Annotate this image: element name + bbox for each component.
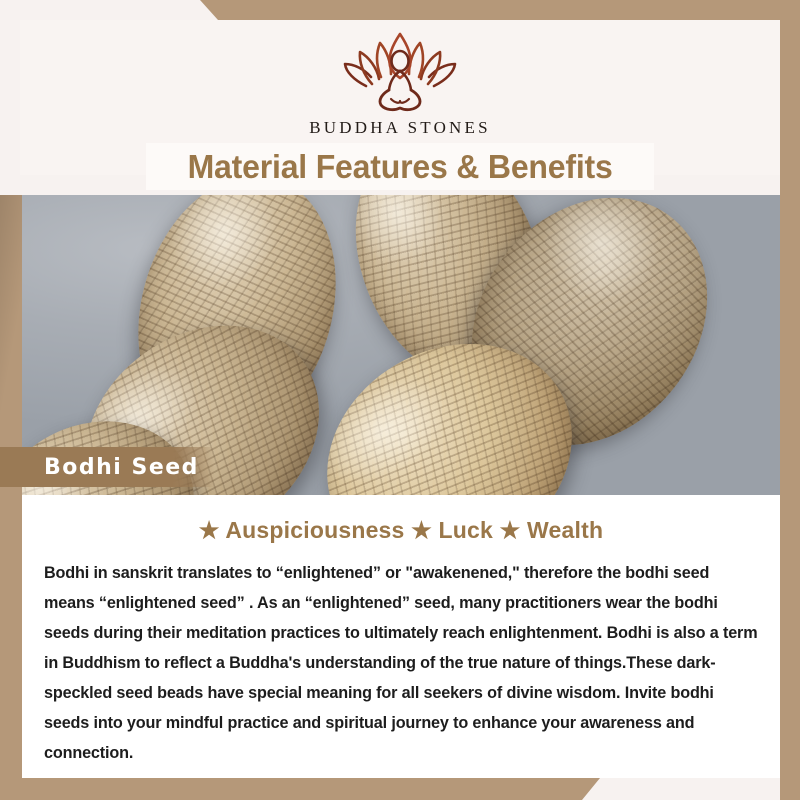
lotus-meditation-figure-icon	[336, 28, 464, 114]
frame-bottom-border	[0, 778, 800, 800]
frame-top-border	[0, 0, 800, 20]
description-text: Bodhi in sanskrit translates to “enlight…	[44, 558, 758, 768]
frame-right-border	[780, 0, 800, 800]
frame-left-lower-border	[0, 480, 22, 800]
title-banner: Material Features & Benefits	[146, 143, 654, 190]
benefits-headline: ★ Auspiciousness ★ Luck ★ Wealth	[22, 517, 780, 544]
material-name-badge: Bodhi Seed	[0, 447, 215, 487]
brand-logo: BUDDHA STONES	[20, 28, 780, 138]
product-info-poster: BUDDHA STONES Material Features & Benefi…	[0, 0, 800, 800]
brand-name: BUDDHA STONES	[309, 118, 491, 138]
material-name-label: Bodhi Seed	[44, 455, 199, 480]
page-title: Material Features & Benefits	[187, 148, 612, 186]
description-panel: ★ Auspiciousness ★ Luck ★ Wealth Bodhi i…	[22, 495, 780, 778]
frame-left-border	[0, 195, 22, 480]
